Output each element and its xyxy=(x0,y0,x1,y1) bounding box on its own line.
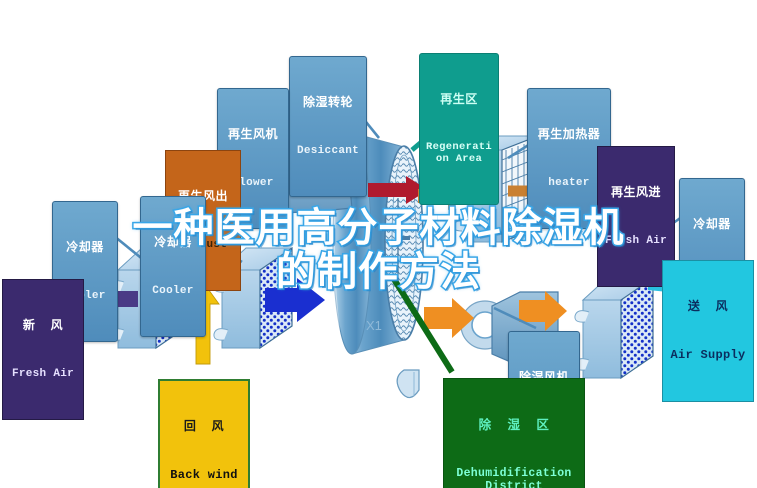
label-regen-fresh-air-en: Fresh Air xyxy=(600,235,672,247)
label-fresh-air-en: Fresh Air xyxy=(5,368,81,380)
label-back-wind-cn: 回 风 xyxy=(162,420,246,433)
label-regeneration-area: 再生区 Regenerati on Area xyxy=(419,53,499,205)
label-dehumidification-district-cn: 除 湿 区 xyxy=(446,418,582,432)
label-air-supply-cn: 送 风 xyxy=(665,300,751,313)
label-fresh-air: 新 风 Fresh Air xyxy=(2,279,84,420)
label-air-supply: 送 风 Air Supply xyxy=(662,260,754,402)
label-regeneration-area-en: Regenerati on Area xyxy=(422,142,496,166)
label-cooler-left-2-en: Cooler xyxy=(143,285,203,297)
label-back-wind-en: Back wind xyxy=(162,469,246,482)
label-regen-blower-cn: 再生风机 xyxy=(220,128,286,141)
svg-text:X1: X1 xyxy=(366,318,382,333)
label-air-supply-en: Air Supply xyxy=(665,349,751,362)
label-cooler-left-2: 冷却器 Cooler xyxy=(140,196,206,337)
label-fresh-air-cn: 新 风 xyxy=(5,319,81,332)
label-cooler-left-1-cn: 冷却器 xyxy=(55,241,115,254)
label-regen-fresh-air-cn: 再生风进 xyxy=(600,186,672,199)
label-dehumidification-district-en: Dehumidification District xyxy=(446,468,582,488)
label-cooler-left-2-cn: 冷却器 xyxy=(143,236,203,249)
label-desiccant-wheel: 除湿转轮 Desiccant xyxy=(289,56,367,197)
label-desiccant-wheel-en: Desiccant xyxy=(292,145,364,157)
diagram-canvas: X1 xyxy=(0,0,757,488)
label-back-wind: 回 风 Back wind xyxy=(158,379,250,488)
label-dehumidification-district: 除 湿 区 Dehumidification District xyxy=(443,378,585,488)
label-cooler-right-cn: 冷却器 xyxy=(682,218,742,231)
label-regeneration-area-cn: 再生区 xyxy=(422,93,496,106)
label-desiccant-wheel-cn: 除湿转轮 xyxy=(292,96,364,109)
label-regen-heater-cn: 再生加热器 xyxy=(530,128,608,141)
cooler-coil-3 xyxy=(575,278,653,378)
